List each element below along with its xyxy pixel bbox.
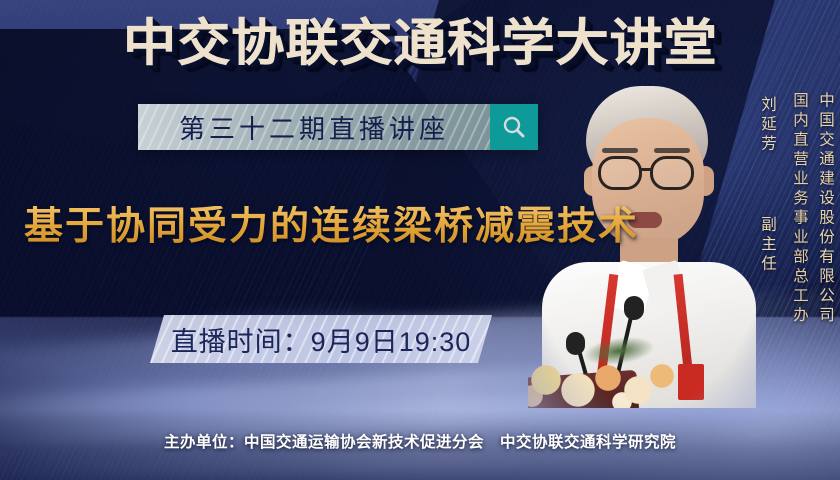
live-lecture-poster: 中交协联交通科学大讲堂 第三十二期直播讲座 基于协同受力的连续梁桥减震技术 直播… — [0, 0, 840, 480]
search-icon[interactable] — [490, 104, 538, 150]
flower-arrangement — [528, 334, 698, 408]
lecture-title: 基于协同受力的连续梁桥减震技术 — [24, 206, 639, 249]
episode-banner-body: 第三十二期直播讲座 — [138, 104, 490, 150]
footer-container: 主办单位：中国交通运输协会新技术促进分会 中交协联交通科学研究院 — [0, 430, 840, 452]
microphone-head — [624, 296, 644, 320]
page-title: 中交协联交通科学大讲堂 — [123, 16, 718, 70]
speaker-eyebrow-right — [654, 148, 690, 153]
organizer-text: 主办单位：中国交通运输协会新技术促进分会 中交协联交通科学研究院 — [164, 430, 676, 452]
broadcast-time-badge: 直播时间：9月9日19:30 — [150, 315, 492, 363]
broadcast-time-text: 直播时间：9月9日19:30 — [171, 320, 472, 359]
speaker-eyebrow-left — [602, 148, 638, 153]
speaker-eyeglass-bridge — [641, 168, 653, 171]
episode-label: 第三十二期直播讲座 — [179, 109, 449, 146]
speaker-company: 中国交通建设股份有限公司 — [808, 92, 834, 326]
speaker-name: 刘延芳 — [759, 96, 776, 155]
speaker-eyeglass-right — [650, 156, 694, 190]
speaker-department: 国内直营业务事业部总工办 — [782, 92, 808, 326]
episode-banner: 第三十二期直播讲座 — [138, 104, 538, 150]
speaker-credentials: 刘延芳 副主任 国内直营业务事业部总工办 中国交通建设股份有限公司 — [746, 92, 834, 326]
speaker-name-and-title: 刘延芳 副主任 — [746, 96, 776, 275]
main-title-container: 中交协联交通科学大讲堂 — [0, 16, 840, 70]
speaker-eyeglass-left — [598, 156, 642, 190]
speaker-title: 副主任 — [759, 216, 776, 275]
speaker-title-spacer — [759, 176, 776, 196]
